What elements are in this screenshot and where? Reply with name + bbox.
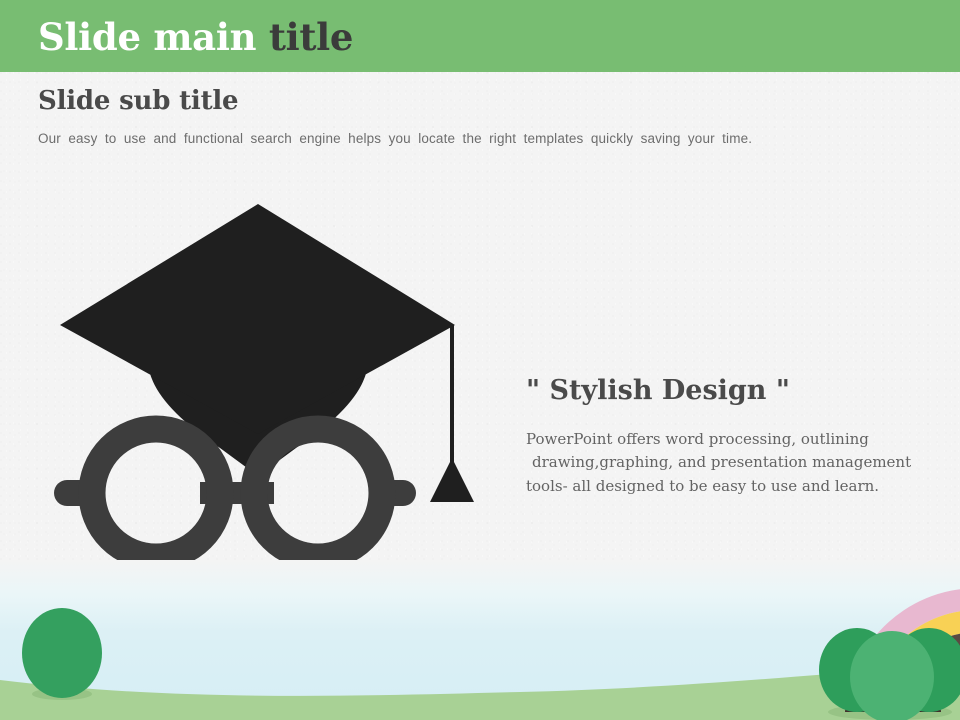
tree-left-foliage (22, 608, 102, 698)
tree-right-front-foliage (850, 631, 934, 720)
slide-canvas: Slide main title Slide sub title Our eas… (0, 0, 960, 720)
slide-sub-title: Slide sub title (38, 87, 238, 116)
slide-main-title: Slide main title (38, 19, 353, 56)
content-body-line-2: drawing,graphing, and presentation manag… (526, 451, 926, 474)
graduation-cap-glasses-illustration (40, 190, 480, 590)
main-title-dark-part: title (269, 15, 353, 59)
content-body-line-3: tools- all designed to be easy to use an… (526, 475, 926, 498)
slide-sub-description: Our easy to use and functional search en… (38, 131, 878, 147)
main-title-white-part: Slide main (38, 15, 256, 59)
content-body-line-1: PowerPoint offers word processing, outli… (526, 428, 926, 451)
header-zigzag-edge (0, 63, 960, 74)
tree-right-front (850, 631, 934, 720)
content-body-text: PowerPoint offers word processing, outli… (526, 428, 926, 498)
content-quote-title: " Stylish Design " (526, 376, 790, 406)
tassel-cone-shape (430, 458, 474, 502)
tree-cluster-right (819, 628, 960, 720)
bottom-landscape-scene (0, 560, 960, 720)
mortarboard-top-shape (60, 204, 455, 434)
